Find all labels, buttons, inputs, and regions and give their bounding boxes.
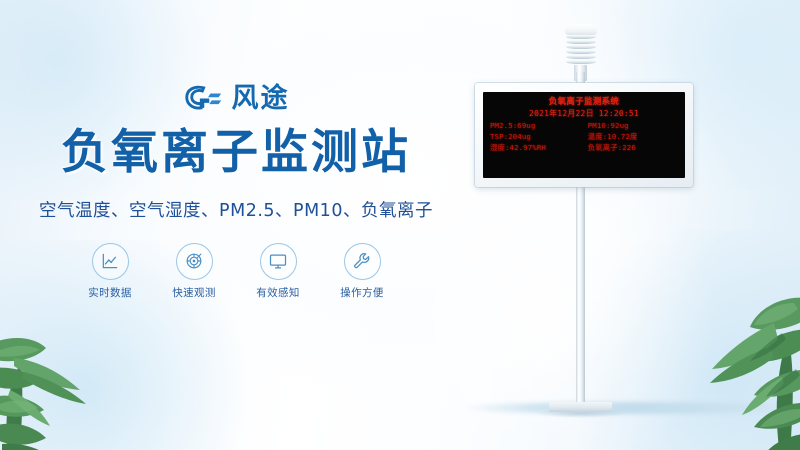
feature-label: 快速观测 xyxy=(172,285,216,300)
monitoring-station: 负氧离子监测系统 2021年12月22日 12:20:51 PM2.5:69ug… xyxy=(470,0,800,450)
feature-label: 操作方便 xyxy=(340,285,384,300)
base-flange-plate xyxy=(549,402,612,412)
led-reading-row: PM2.5:69ug PM10:92ug xyxy=(490,121,678,132)
led-display-panel[interactable]: 负氧离子监测系统 2021年12月22日 12:20:51 PM2.5:69ug… xyxy=(475,83,693,187)
radar-observation-icon xyxy=(176,243,213,280)
led-reading-temperature: 温度:10.72度 xyxy=(588,132,678,143)
wrench-icon xyxy=(344,243,381,280)
feature-item-effective-sensing[interactable]: 有效感知 xyxy=(250,243,306,300)
feature-list: 实时数据 快速观测 xyxy=(0,243,472,300)
feature-item-easy-operation[interactable]: 操作方便 xyxy=(334,243,390,300)
monitor-screen-icon xyxy=(260,243,297,280)
led-title: 负氧离子监测系统 xyxy=(490,97,678,108)
hero-text-block: 风途 负氧离子监测站 空气温度、空气湿度、PM2.5、PM10、负氧离子 实时数… xyxy=(0,78,472,300)
fengtu-logo-icon xyxy=(183,84,223,113)
line-chart-icon xyxy=(92,243,129,280)
green-leaf-plant-left xyxy=(0,286,144,450)
feature-item-fast-observation[interactable]: 快速观测 xyxy=(166,243,222,300)
feature-item-realtime-data[interactable]: 实时数据 xyxy=(82,243,138,300)
brand-name: 风途 xyxy=(232,85,290,112)
led-screen: 负氧离子监测系统 2021年12月22日 12:20:51 PM2.5:69ug… xyxy=(483,92,685,178)
led-datetime: 2021年12月22日 12:20:51 xyxy=(490,109,678,120)
brand-logo: 风途 xyxy=(0,78,472,118)
led-reading-pm10: PM10:92ug xyxy=(588,121,678,132)
hero-subtitle: 空气温度、空气湿度、PM2.5、PM10、负氧离子 xyxy=(0,197,472,222)
led-reading-row: TSP:204ug 温度:10.72度 xyxy=(490,132,678,143)
feature-label: 实时数据 xyxy=(88,285,132,300)
page-title: 负氧离子监测站 xyxy=(0,127,472,180)
led-readings: PM2.5:69ug PM10:92ug TSP:204ug 温度:10.72度… xyxy=(490,121,678,153)
led-reading-negative-oxygen-ions: 负氧离子:226 xyxy=(588,143,678,154)
led-reading-humidity: 湿度:42.97%RH xyxy=(490,143,588,154)
promo-banner: 风途 负氧离子监测站 空气温度、空气湿度、PM2.5、PM10、负氧离子 实时数… xyxy=(0,0,800,450)
feature-label: 有效感知 xyxy=(256,285,300,300)
sensor-plates xyxy=(566,35,596,65)
led-reading-tsp: TSP:204ug xyxy=(490,132,588,143)
sensor-cap xyxy=(565,24,597,35)
ground-line xyxy=(460,402,800,414)
led-reading-pm25: PM2.5:69ug xyxy=(490,121,588,132)
led-reading-row: 湿度:42.97%RH 负氧离子:226 xyxy=(490,143,678,154)
